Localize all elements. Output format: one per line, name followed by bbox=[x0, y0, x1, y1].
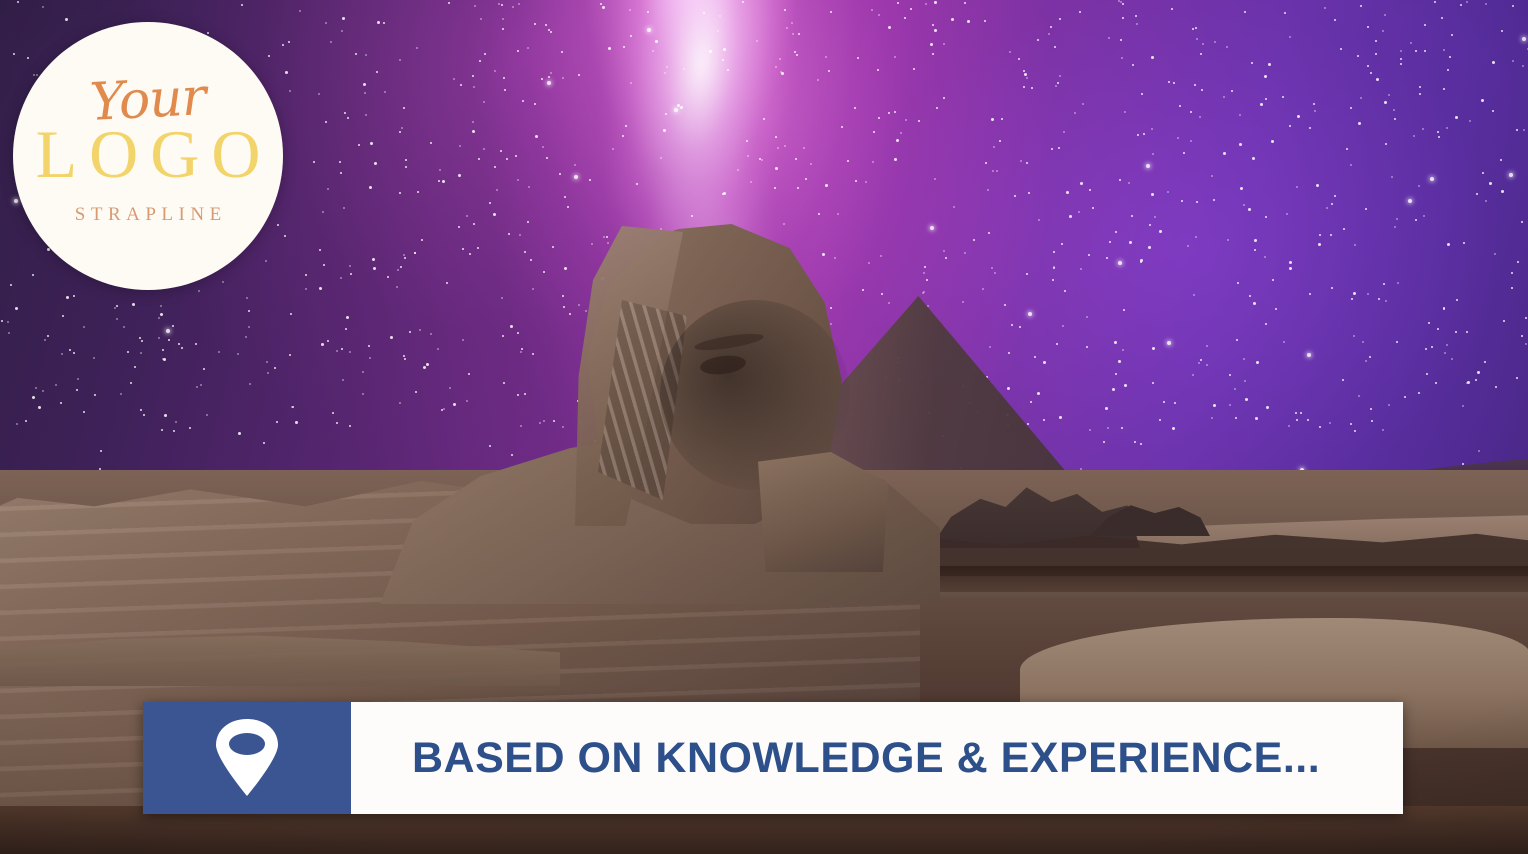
ground-shadow-band bbox=[840, 566, 1528, 592]
logo-strapline: STRAPLINE bbox=[69, 204, 226, 226]
map-pin-icon bbox=[212, 718, 282, 798]
banner-text-container: BASED ON KNOWLEDGE & EXPERIENCE... bbox=[351, 702, 1403, 814]
banner-icon-container bbox=[143, 702, 351, 814]
logo-script-word: Your bbox=[89, 77, 206, 125]
slide-canvas: Your LOGO STRAPLINE BASED ON KNOWLEDGE &… bbox=[0, 0, 1528, 854]
banner-headline: BASED ON KNOWLEDGE & EXPERIENCE... bbox=[351, 734, 1320, 783]
logo-badge[interactable]: Your LOGO STRAPLINE bbox=[13, 22, 283, 290]
lower-third-banner[interactable]: BASED ON KNOWLEDGE & EXPERIENCE... bbox=[143, 702, 1403, 814]
